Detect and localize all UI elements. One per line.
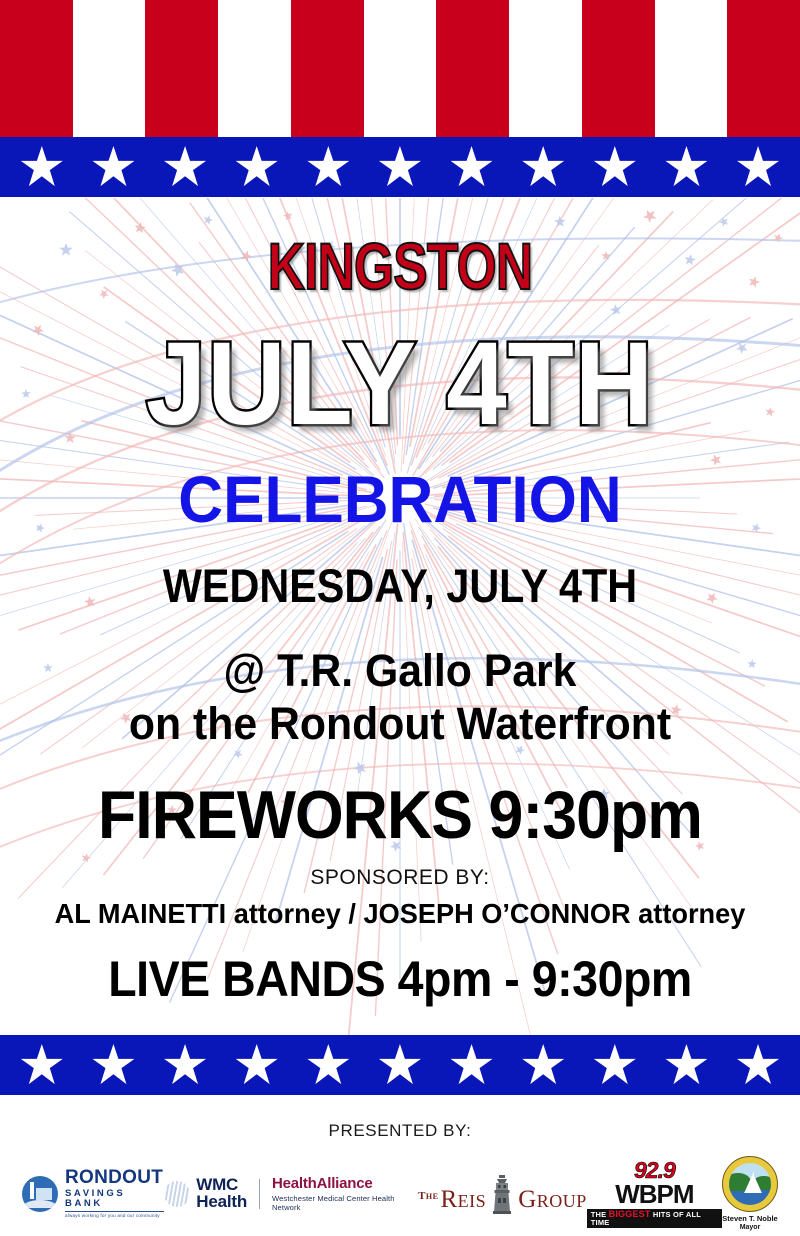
city-seal-scene — [729, 1163, 771, 1205]
rondout-subtitle: SAVINGS BANK — [65, 1189, 164, 1208]
wmc-wordmark: WMC Health — [196, 1177, 247, 1210]
flag-stripe — [145, 0, 218, 137]
logo-wbpm-radio[interactable]: 92.9 WBPM THE BIGGEST HITS OF ALL TIME — [587, 1159, 722, 1229]
event-venue-line-1: @ T.R. Gallo Park — [20, 645, 780, 697]
rondout-wordmark: RONDOUT SAVINGS BANK always working for … — [65, 1168, 164, 1219]
rondout-lighthouse-harbor-icon — [22, 1176, 58, 1212]
wbpm-callsign: WBPM — [615, 1181, 693, 1207]
july4-celebration-poster: KINGSTON JULY 4TH CELEBRATION WEDNESDAY,… — [0, 0, 800, 1236]
flag-star-icon — [21, 1044, 63, 1086]
presented-by-label: PRESENTED BY: — [0, 1121, 800, 1141]
wmc-globe-icon — [164, 1181, 190, 1207]
city-seal-icon — [722, 1156, 778, 1212]
flag-star-icon — [737, 1044, 779, 1086]
flag-stripe — [436, 0, 509, 137]
wbpm-slogan: THE BIGGEST HITS OF ALL TIME — [587, 1209, 722, 1229]
wbpm-slogan-emphasis: BIGGEST — [609, 1209, 651, 1219]
mayor-role: Mayor — [740, 1224, 761, 1231]
rondout-name: RONDOUT — [65, 1168, 164, 1187]
page-title-city: KINGSTON — [88, 228, 712, 304]
footer-sponsors-section: PRESENTED BY: RONDOUT SAVINGS BANK alway… — [0, 1095, 800, 1236]
flag-stripe — [0, 0, 73, 137]
flag-star-icon — [522, 146, 564, 188]
flag-header-banner — [0, 0, 800, 198]
flag-star-icon — [236, 146, 278, 188]
reis-word-group: Group — [518, 1186, 587, 1214]
flag-stripe — [655, 0, 728, 137]
event-venue-line-2: on the Rondout Waterfront — [20, 698, 780, 750]
rondout-wave-shape — [22, 1200, 58, 1208]
flag-star-icon — [164, 1044, 206, 1086]
flag-star-icon — [451, 1044, 493, 1086]
flag-star-icon — [307, 1044, 349, 1086]
page-title-event: CELEBRATION — [24, 461, 776, 537]
live-bands-time-line: LIVE BANDS 4pm - 9:30pm — [28, 950, 772, 1008]
flag-star-icon — [92, 1044, 134, 1086]
flag-star-icon — [594, 1044, 636, 1086]
flag-stripe — [509, 0, 582, 137]
flag-star-icon — [379, 1044, 421, 1086]
sponsored-by-label: SPONSORED BY: — [0, 866, 800, 890]
footer-logo-row: RONDOUT SAVINGS BANK always working for … — [0, 1151, 800, 1236]
lighthouse-icon — [490, 1174, 514, 1214]
flag-stripe — [364, 0, 437, 137]
flag-star-icon — [737, 146, 779, 188]
healthalliance-wordmark: HealthAlliance Westchester Medical Cente… — [272, 1175, 418, 1212]
flag-star-icon — [307, 146, 349, 188]
flag-star-icon — [665, 146, 707, 188]
flag-stripe — [582, 0, 655, 137]
flag-star-icon — [665, 1044, 707, 1086]
flag-star-icon — [451, 146, 493, 188]
flag-star-icon — [92, 146, 134, 188]
logo-city-of-kingston-seal[interactable]: Steven T. Noble Mayor — [722, 1156, 778, 1231]
rondout-tagline: always working for you and our community — [65, 1211, 164, 1219]
healthalliance-name: HealthAlliance — [272, 1175, 418, 1192]
poster-content: KINGSTON JULY 4TH CELEBRATION WEDNESDAY,… — [0, 198, 800, 1035]
flag-starband-top — [0, 137, 800, 197]
reis-word-reis: Reis — [441, 1186, 487, 1214]
flag-stripe — [727, 0, 800, 137]
flag-stripe — [291, 0, 364, 137]
healthalliance-subtitle: Westchester Medical Center Health Networ… — [272, 1194, 418, 1212]
flag-star-icon — [236, 1044, 278, 1086]
page-title-date: JULY 4TH — [32, 316, 768, 452]
flag-starband-bottom — [0, 1035, 800, 1095]
logo-rondout-savings-bank[interactable]: RONDOUT SAVINGS BANK always working for … — [22, 1168, 164, 1219]
wmc-name-line2: Health — [196, 1194, 247, 1210]
event-weekday-line: WEDNESDAY, JULY 4TH — [48, 558, 752, 613]
logo-the-reis-group[interactable]: The Reis Group — [418, 1174, 587, 1214]
flag-star-icon — [522, 1044, 564, 1086]
flag-star-icon — [21, 146, 63, 188]
sponsors-names-line: AL MAINETTI attorney / JOSEPH O’CONNOR a… — [12, 898, 788, 930]
flag-footer-banner — [0, 1035, 800, 1095]
wmc-divider — [259, 1179, 260, 1209]
logo-wmc-health-healthalliance[interactable]: WMC Health HealthAlliance Westchester Me… — [164, 1175, 418, 1212]
flag-stripe — [218, 0, 291, 137]
flag-star-icon — [164, 146, 206, 188]
reis-article: The — [418, 1190, 438, 1202]
flag-stripe — [73, 0, 146, 137]
flag-star-icon — [379, 146, 421, 188]
fireworks-time-line: FIREWORKS 9:30pm — [32, 776, 768, 854]
flag-star-icon — [594, 146, 636, 188]
mayor-name: Steven T. Noble — [722, 1215, 777, 1224]
flag-stripes-top — [0, 0, 800, 137]
